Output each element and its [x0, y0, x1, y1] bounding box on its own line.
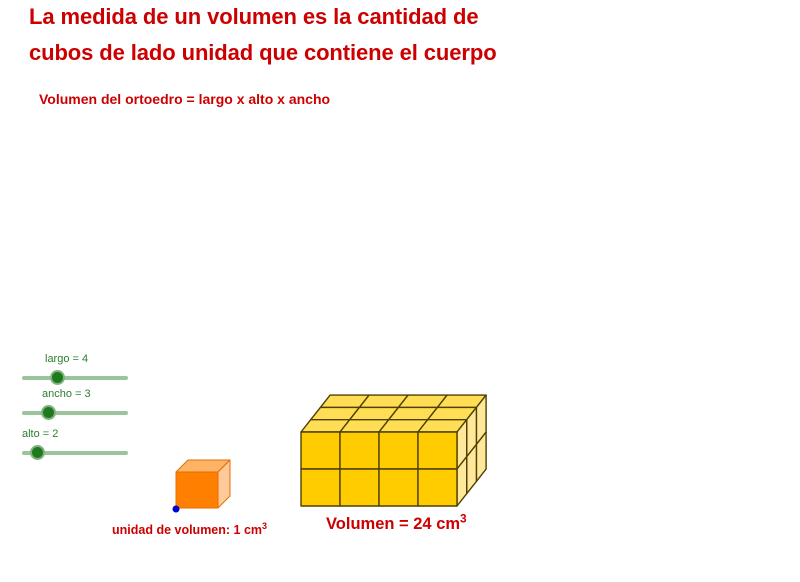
- slider-alto-knob[interactable]: [30, 445, 45, 460]
- ortoedro-front-cell: [340, 432, 379, 469]
- ortoedro-front-cell: [379, 469, 418, 506]
- slider-largo-label: largo = 4: [12, 352, 152, 366]
- formula-subtitle: Volumen del ortoedro = largo x alto x an…: [39, 91, 330, 107]
- page-title-line-1: La medida de un volumen es la cantidad d…: [29, 4, 478, 30]
- unit-cube-label-text: unidad de volumen: 1 cm: [112, 523, 262, 537]
- slider-alto[interactable]: alto = 2: [12, 427, 152, 462]
- page-title-line-2: cubos de lado unidad que contiene el cue…: [29, 40, 497, 66]
- ortoedro-front-cell: [379, 432, 418, 469]
- slider-ancho[interactable]: ancho = 3: [12, 387, 152, 422]
- slider-largo-track[interactable]: [22, 376, 128, 380]
- unit-cube-label: unidad de volumen: 1 cm3: [112, 523, 267, 537]
- slider-ancho-track[interactable]: [22, 411, 128, 415]
- ortoedro-svg[interactable]: [292, 386, 497, 514]
- unit-cube-anchor-point[interactable]: [173, 506, 180, 513]
- slider-largo[interactable]: largo = 4: [12, 352, 152, 387]
- ortoedro-front-cell: [301, 469, 340, 506]
- slider-alto-label: alto = 2: [12, 427, 152, 441]
- unit-cube-label-exponent: 3: [262, 521, 267, 531]
- ortoedro-front-cell: [418, 469, 457, 506]
- unit-cube[interactable]: [168, 458, 238, 518]
- volumen-result-text: Volumen = 24 cm: [326, 515, 460, 533]
- unit-cube-front-face: [176, 472, 218, 508]
- unit-cube-svg[interactable]: [168, 458, 238, 518]
- ortoedro-front-cell: [340, 469, 379, 506]
- slider-ancho-knob[interactable]: [41, 405, 56, 420]
- ortoedro-front-cell: [301, 432, 340, 469]
- volumen-result-exponent: 3: [460, 512, 467, 526]
- slider-largo-knob[interactable]: [50, 370, 65, 385]
- slider-ancho-track-wrap[interactable]: [12, 404, 152, 422]
- slider-alto-track-wrap[interactable]: [12, 444, 152, 462]
- slider-ancho-label: ancho = 3: [12, 387, 152, 401]
- slider-largo-track-wrap[interactable]: [12, 369, 152, 387]
- ortoedro-front-cell: [418, 432, 457, 469]
- volumen-result-label: Volumen = 24 cm3: [326, 515, 467, 534]
- ortoedro-cuboid[interactable]: [292, 386, 497, 514]
- applet-canvas: La medida de un volumen es la cantidad d…: [0, 0, 800, 582]
